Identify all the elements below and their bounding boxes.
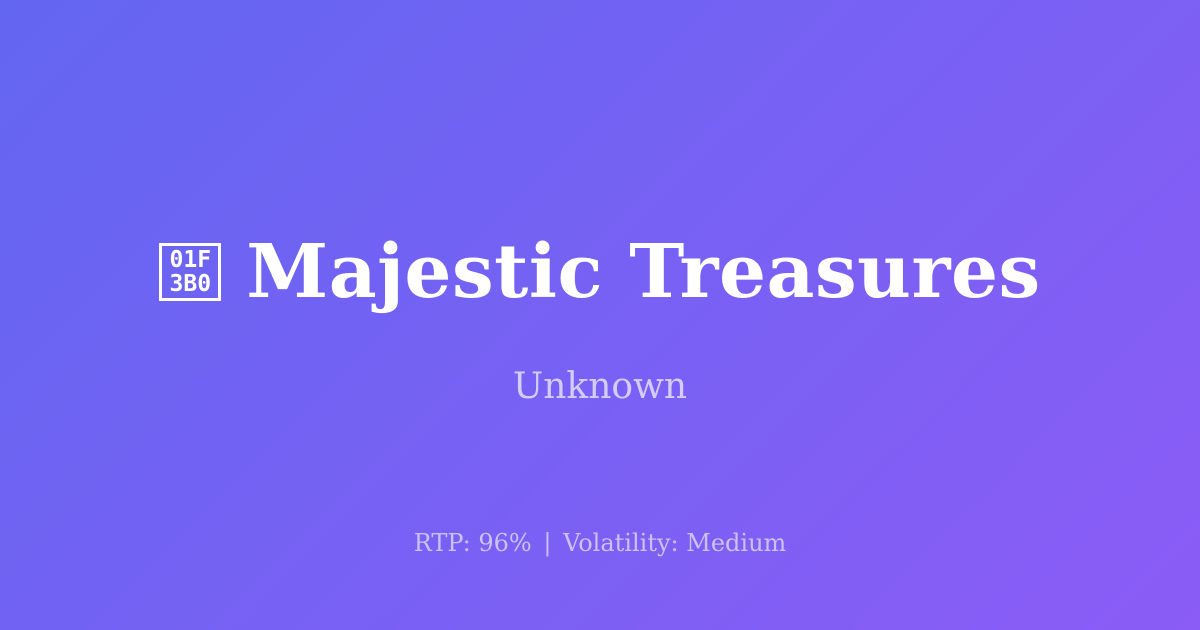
slot-machine-icon-codepoint-bottom: 3B0 bbox=[170, 272, 212, 296]
game-preview-card: 01F 3B0 Majestic Treasures Unknown RTP: … bbox=[0, 0, 1200, 630]
rtp-label: RTP: bbox=[414, 529, 471, 557]
title-row: 01F 3B0 Majestic Treasures bbox=[0, 232, 1200, 312]
volatility-value: Medium bbox=[686, 529, 786, 557]
slot-machine-icon-codepoint-top: 01F bbox=[170, 248, 212, 272]
rtp-value: 96% bbox=[478, 529, 531, 557]
slot-machine-icon: 01F 3B0 bbox=[159, 243, 221, 301]
volatility-label: Volatility: bbox=[563, 529, 679, 557]
page-title: Majestic Treasures bbox=[246, 232, 1040, 312]
provider-subtitle: Unknown bbox=[0, 365, 1200, 409]
stats-separator: | bbox=[539, 529, 555, 557]
game-stats-line: RTP: 96% | Volatility: Medium bbox=[0, 528, 1200, 558]
